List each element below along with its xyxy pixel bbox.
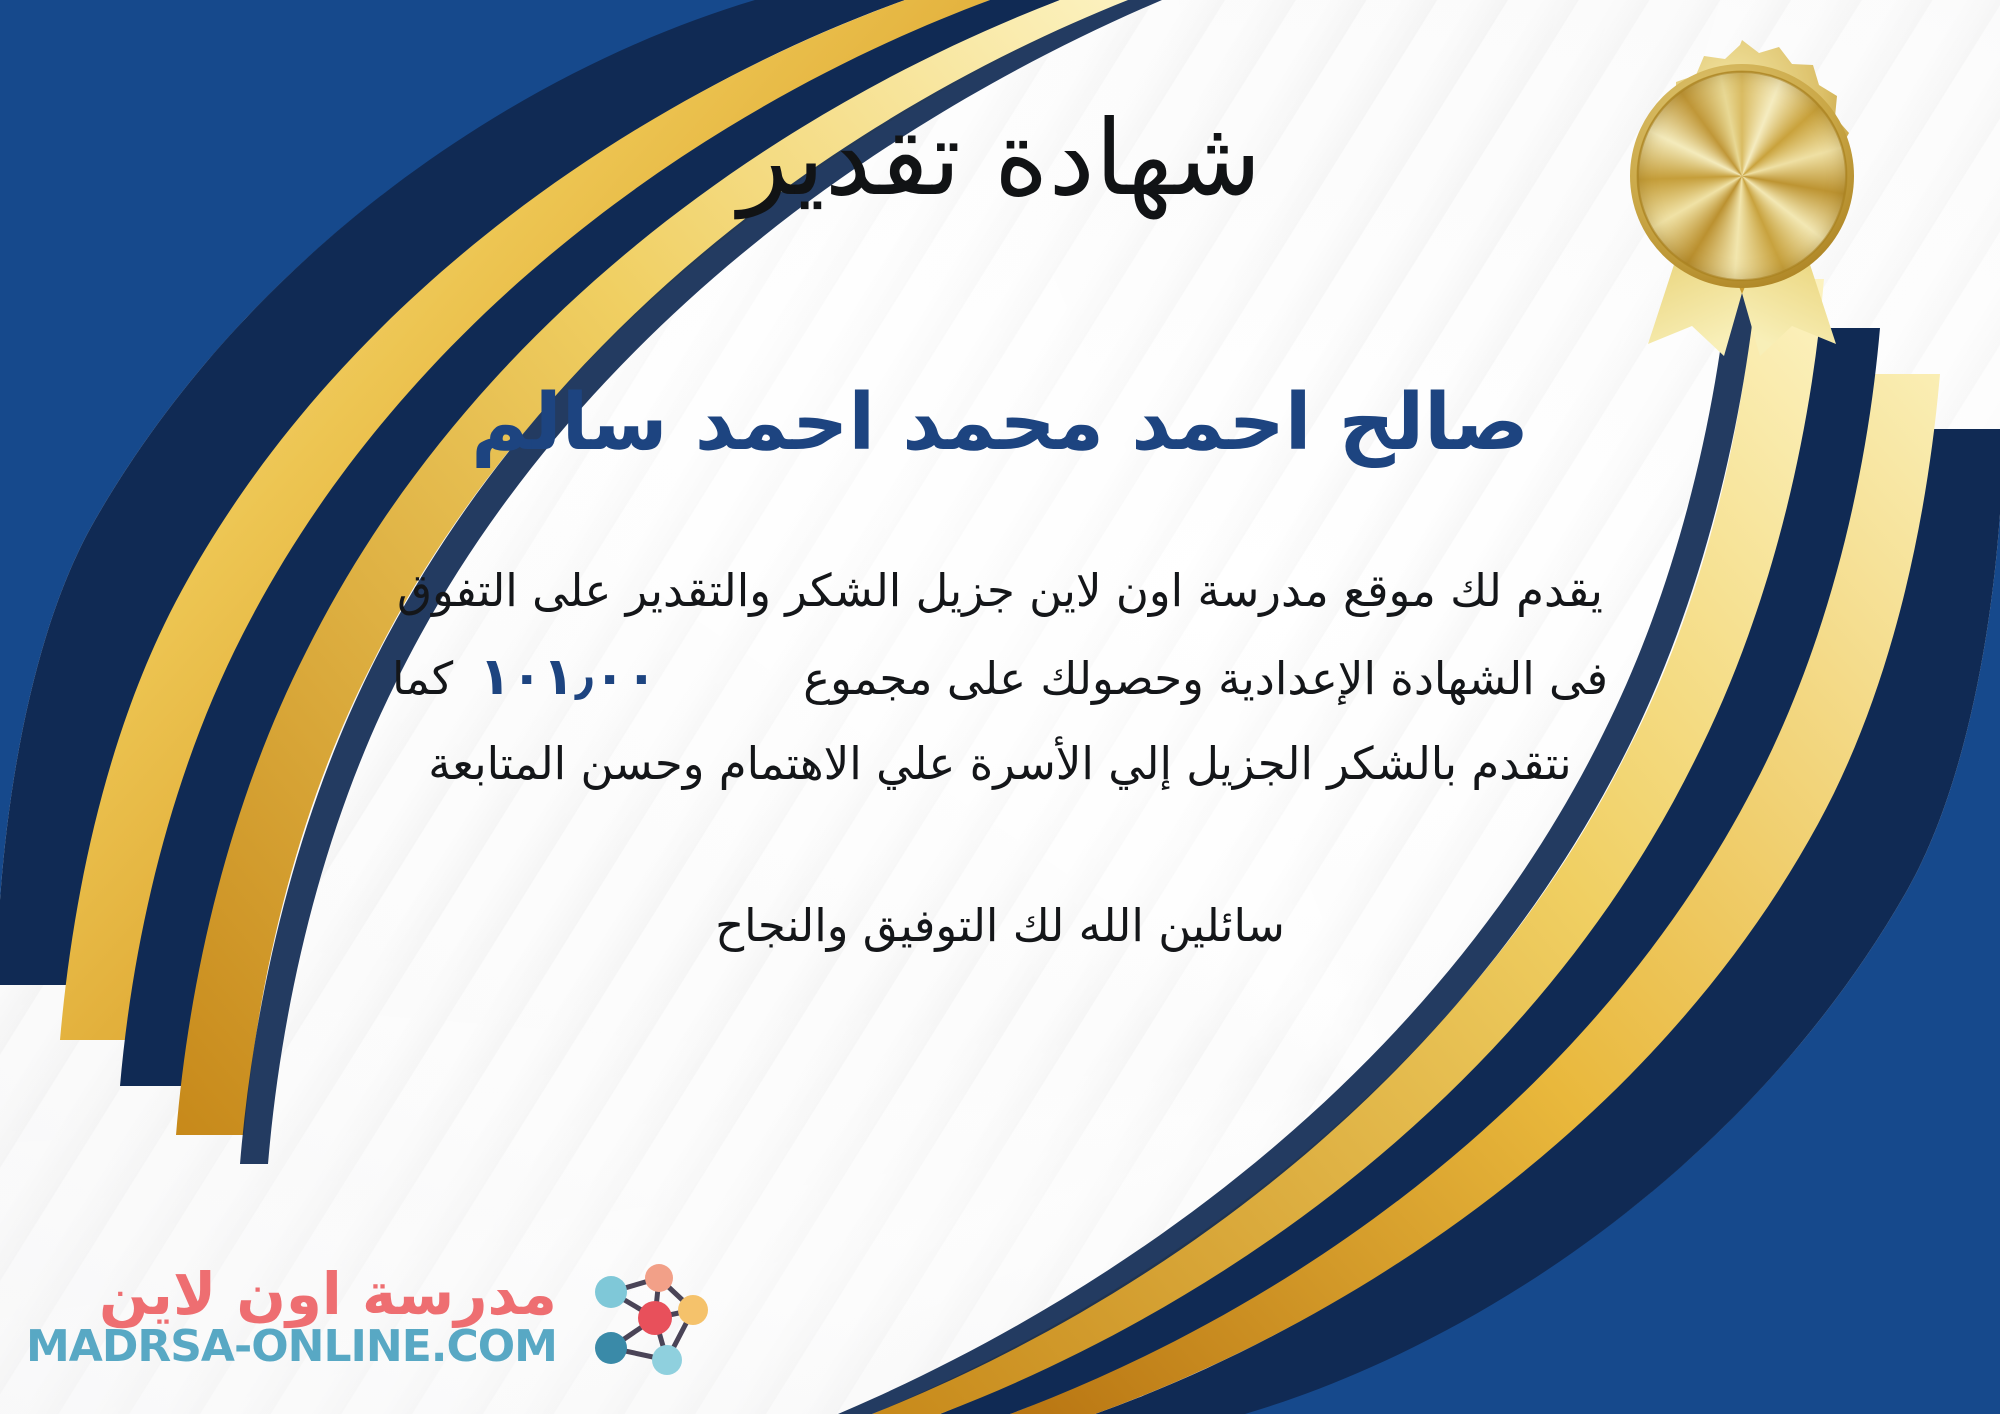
- node-red-center: [638, 1301, 672, 1335]
- brand-text-block: مدرسة اون لاين MADRSA-ONLINE.COM: [26, 1265, 557, 1370]
- certificate-canvas: شهادة تقدير صالح احمد محمد احمد سالم يقد…: [0, 0, 2000, 1414]
- recipient-name: صالح احمد محمد احمد سالم: [471, 381, 1529, 467]
- brand-website-url[interactable]: MADRSA-ONLINE.COM: [26, 1324, 557, 1370]
- certificate-title: شهادة تقدير: [738, 104, 1261, 213]
- node-yellow: [678, 1295, 708, 1325]
- brand-arabic-name: مدرسة اون لاين: [99, 1265, 557, 1324]
- node-teal-top: [595, 1276, 627, 1308]
- closing-wish: سائلين الله لك التوفيق والنجاح: [715, 890, 1285, 962]
- certificate-content: شهادة تقدير صالح احمد محمد احمد سالم يقد…: [0, 0, 2000, 1414]
- node-teal-light: [652, 1345, 682, 1375]
- body-line-1: يقدم لك موقع مدرسة اون لاين جزيل الشكر و…: [260, 551, 1740, 631]
- brand-logo[interactable]: مدرسة اون لاين MADRSA-ONLINE.COM: [26, 1248, 721, 1388]
- body-line-2: فى الشهادة الإعدادية وحصولك على مجموع١٠١…: [260, 631, 1740, 724]
- node-peach: [645, 1264, 673, 1292]
- node-blue-dark: [595, 1332, 627, 1364]
- body-line-3: نتقدم بالشكر الجزيل إلي الأسرة علي الاهت…: [260, 724, 1740, 804]
- body-line-2-prefix: فى الشهادة الإعدادية وحصولك على مجموع: [803, 652, 1608, 705]
- certificate-body: يقدم لك موقع مدرسة اون لاين جزيل الشكر و…: [260, 551, 1740, 804]
- network-nodes-icon: [571, 1248, 721, 1388]
- total-score-value: ١٠١٫٠٠: [453, 647, 683, 707]
- body-line-2-suffix: كما: [392, 652, 453, 705]
